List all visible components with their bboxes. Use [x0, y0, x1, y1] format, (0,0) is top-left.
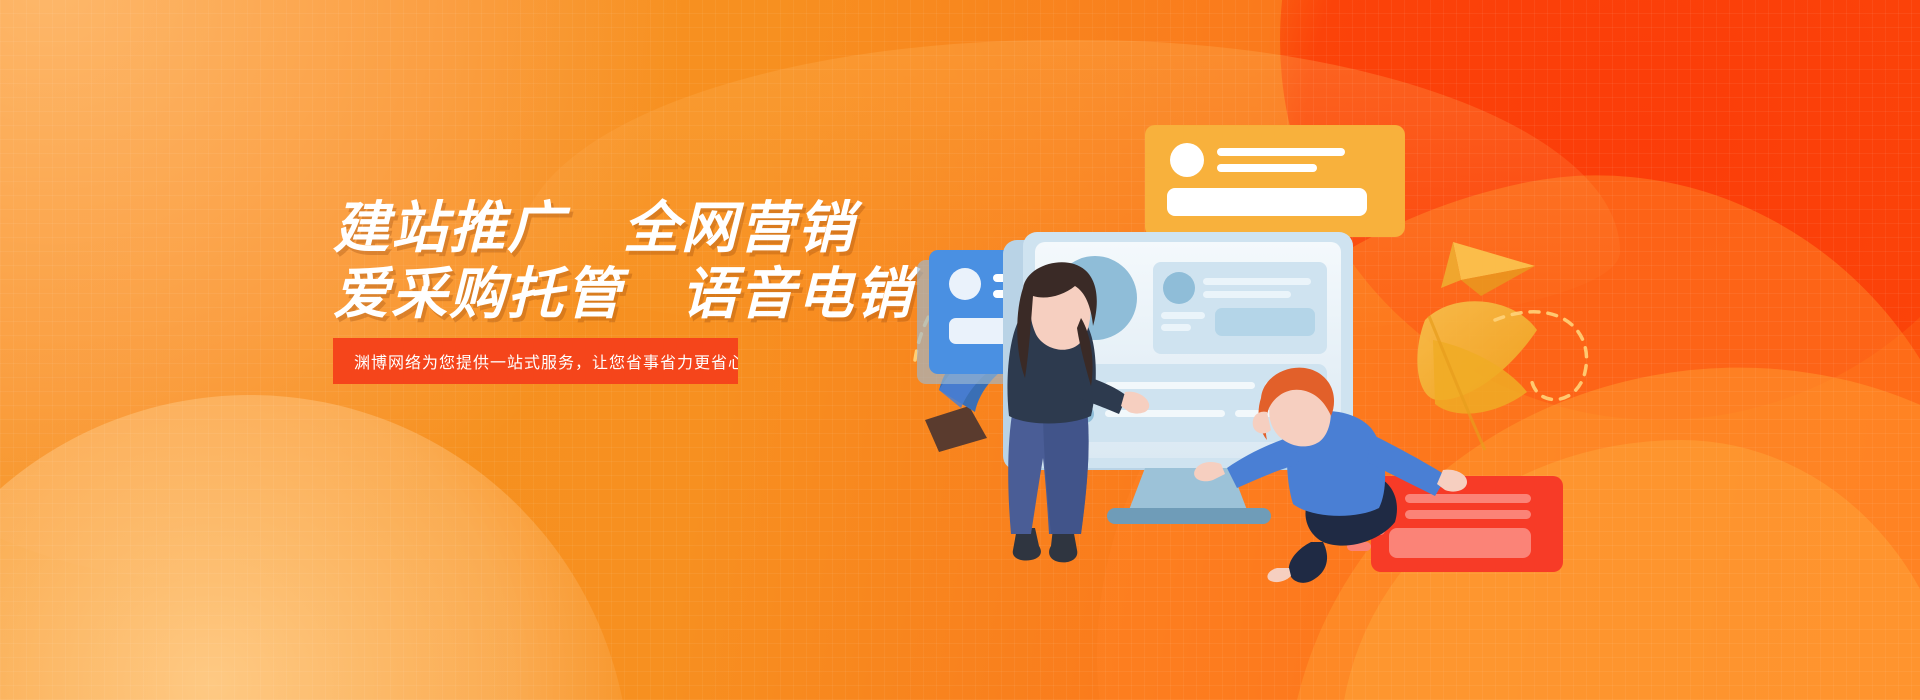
- ribbon-inner: 渊博网络为您提供一站式服务，让您省事省力更省心: [333, 338, 738, 384]
- tagline-ribbon: 渊博网络为您提供一站式服务，让您省事省力更省心: [333, 338, 738, 384]
- hero-illustration: [895, 90, 1655, 610]
- leaf-plant-right: [1417, 301, 1537, 450]
- paper-plane-icon: [1441, 242, 1535, 296]
- ribbon-label: 渊博网络为您提供一站式服务，让您省事省力更省心: [333, 349, 745, 373]
- promo-banner: 建站推广 全网营销 爱采购托管 语音电销 渊博网络为您提供一站式服务，让您省事省…: [0, 0, 1920, 700]
- yellow-card: [1145, 125, 1405, 237]
